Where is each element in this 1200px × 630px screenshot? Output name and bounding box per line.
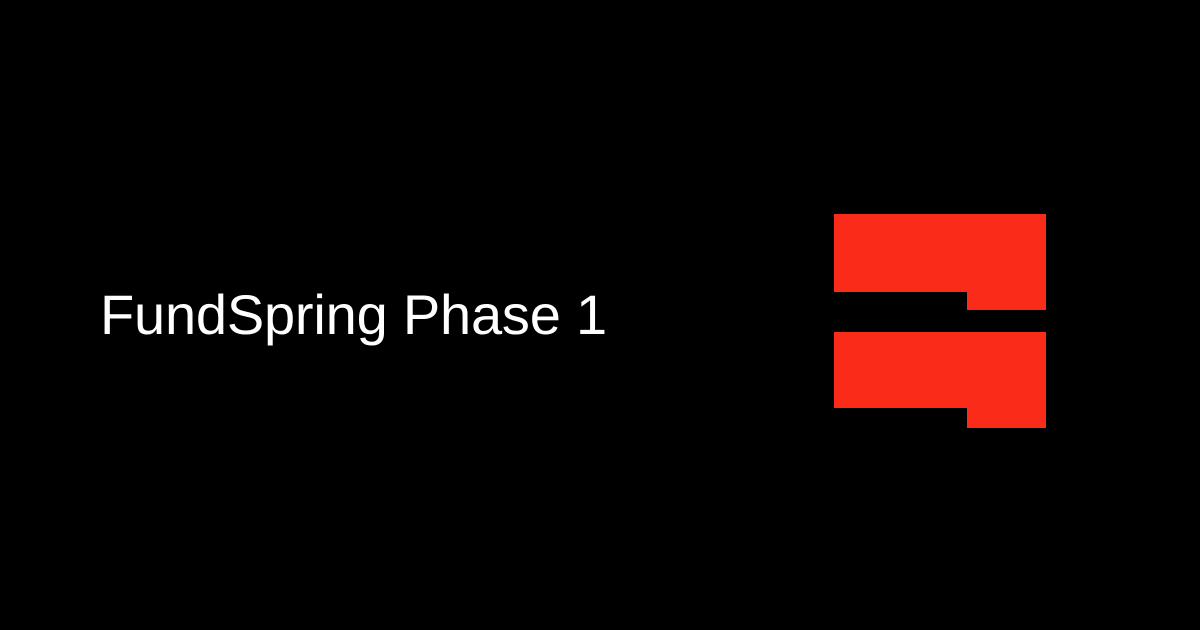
fundspring-logo xyxy=(834,214,1046,428)
logo-block-top xyxy=(834,214,1046,310)
stacked-blocks-logo-icon xyxy=(834,214,1046,428)
logo-block-bottom xyxy=(834,332,1046,428)
page-title: FundSpring Phase 1 xyxy=(100,284,607,347)
og-card: FundSpring Phase 1 xyxy=(0,0,1200,630)
title-block: FundSpring Phase 1 xyxy=(100,271,740,359)
